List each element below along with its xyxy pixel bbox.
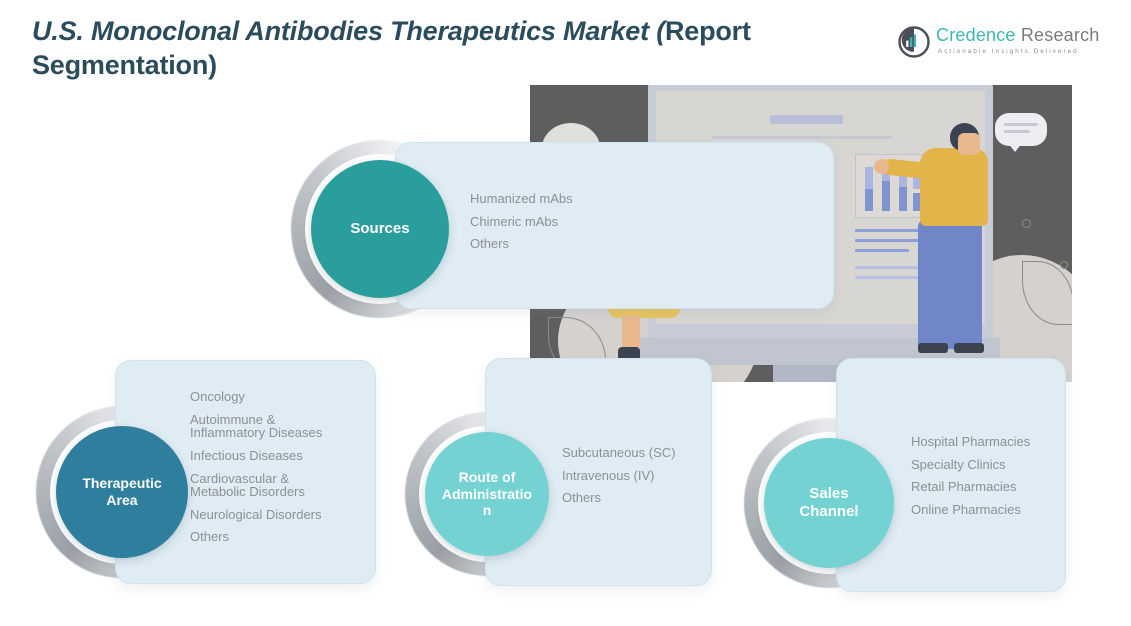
- sales-circle[interactable]: Sales Channel: [764, 438, 894, 568]
- therapeutic-area-circle[interactable]: Therapeutic Area: [56, 426, 188, 558]
- list-item: Cardiovascular & Metabolic Disorders: [190, 472, 370, 499]
- sales-item-list: Hospital Pharmacies Specialty Clinics Re…: [911, 435, 1081, 526]
- infographic-canvas: U.S. Monoclonal Antibodies Therapeutics …: [0, 0, 1131, 626]
- list-item: Autoimmune & Inflammatory Diseases: [190, 413, 370, 440]
- route-item-list: Subcutaneous (SC) Intravenous (IV) Other…: [562, 446, 722, 514]
- list-item: Retail Pharmacies: [911, 480, 1081, 494]
- list-item: Oncology: [190, 390, 370, 404]
- list-item: Others: [562, 491, 722, 505]
- sources-circle[interactable]: Sources: [311, 160, 449, 298]
- list-item: Humanized mAbs: [470, 192, 800, 206]
- slide-subline: [712, 136, 892, 139]
- list-item: Others: [190, 530, 370, 544]
- page-title: U.S. Monoclonal Antibodies Therapeutics …: [32, 14, 892, 82]
- list-item: Online Pharmacies: [911, 503, 1081, 517]
- presenter-shoe-left: [918, 343, 948, 353]
- logo-wordmark: Credence Research: [936, 25, 1100, 46]
- presenter-torso: [920, 148, 988, 226]
- page-title-italic: U.S. Monoclonal Antibodies Therapeutics …: [32, 16, 665, 46]
- list-item: Specialty Clinics: [911, 458, 1081, 472]
- slide-heading-bar: [770, 115, 843, 124]
- list-item: Intravenous (IV): [562, 469, 722, 483]
- presenter-face: [958, 133, 980, 155]
- list-item: Neurological Disorders: [190, 508, 370, 522]
- sales-circle-label: Sales Channel: [799, 485, 858, 520]
- list-item: Hospital Pharmacies: [911, 435, 1081, 449]
- list-item: Subcutaneous (SC): [562, 446, 722, 460]
- slide-text-line-2: [855, 239, 925, 242]
- speech-bubble-tail: [1008, 143, 1022, 152]
- presenter-shoe-right: [954, 343, 984, 353]
- presenter-legs: [918, 219, 982, 349]
- presenter-hand: [874, 159, 889, 174]
- list-item: Chimeric mAbs: [470, 215, 800, 229]
- decor-dot-b: [1060, 261, 1068, 269]
- slide-text-line-3: [855, 249, 909, 252]
- sources-item-list: Humanized mAbs Chimeric mAbs Others: [470, 192, 800, 260]
- logo-word-credence: Credence: [936, 25, 1016, 45]
- route-circle[interactable]: Route of Administratio n: [425, 432, 549, 556]
- logo-word-research: Research: [1021, 25, 1100, 45]
- therapeutic-area-item-list: Oncology Autoimmune & Inflammatory Disea…: [190, 390, 370, 553]
- therapeutic-area-circle-label: Therapeutic Area: [82, 475, 161, 508]
- logo-tagline: Actionable Insights Delivered: [938, 48, 1079, 55]
- bar-chart-circle-icon: [898, 26, 930, 58]
- credence-research-logo: Credence Research Actionable Insights De…: [898, 24, 1094, 64]
- route-circle-label: Route of Administratio n: [442, 469, 532, 519]
- list-item: Infectious Diseases: [190, 449, 370, 463]
- list-item: Others: [470, 237, 800, 251]
- slide-text-line-5: [855, 276, 921, 279]
- sources-circle-label: Sources: [350, 220, 409, 238]
- decor-dot-a: [1022, 219, 1031, 228]
